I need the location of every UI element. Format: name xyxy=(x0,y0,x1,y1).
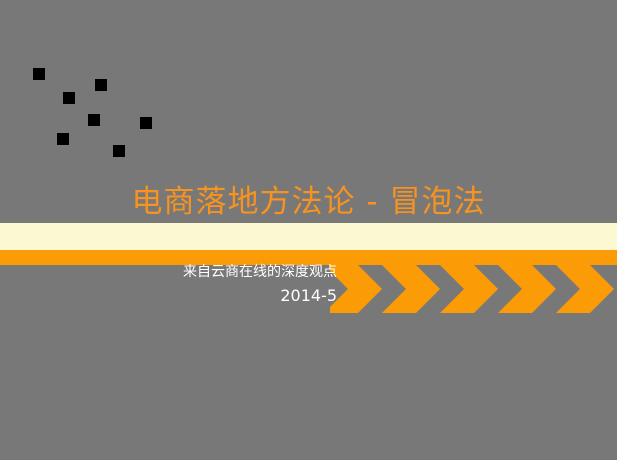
subtitle-block: 来自云商在线的深度观点 2014-5 xyxy=(0,262,337,308)
chevron-arrow xyxy=(330,265,382,313)
decorative-square xyxy=(140,117,152,129)
title-block: 电商落地方法论 - 冒泡法 xyxy=(0,182,617,222)
chevron-arrow xyxy=(556,265,614,313)
cream-band xyxy=(0,223,617,250)
decorative-square-cluster xyxy=(0,0,200,180)
decorative-square xyxy=(33,68,45,80)
chevron-arrow xyxy=(498,265,556,313)
subtitle-source-line: 来自云商在线的深度观点 xyxy=(0,262,337,282)
chevron-arrow xyxy=(382,265,440,313)
subtitle-date: 2014-5 xyxy=(0,284,337,308)
chevron-arrow-strip xyxy=(330,265,617,313)
decorative-square xyxy=(63,92,75,104)
decorative-square xyxy=(57,133,69,145)
presentation-slide: 电商落地方法论 - 冒泡法 来自云商在线的深度观点 2014-5 xyxy=(0,0,617,460)
slide-title: 电商落地方法论 - 冒泡法 xyxy=(132,182,486,222)
decorative-square xyxy=(95,79,107,91)
decorative-square xyxy=(88,114,100,126)
decorative-square xyxy=(113,145,125,157)
chevron-arrows-icon xyxy=(330,265,617,313)
chevron-arrow xyxy=(440,265,498,313)
